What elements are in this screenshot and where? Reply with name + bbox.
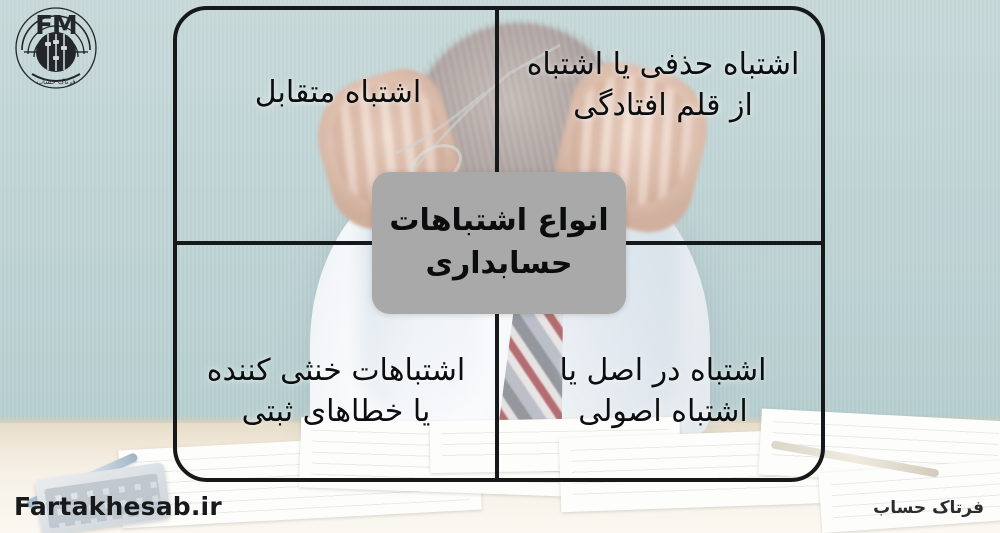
- quadrant-top-left-line1: اشتباه متقابل: [188, 72, 488, 113]
- center-node-label: انواع اشتباهات حسابداری: [389, 200, 608, 285]
- watermark-site-url: Fartakhesab.ir: [14, 492, 222, 521]
- quadrant-top-right: اشتباه حذفی یا اشتباه از قلم افتادگی: [508, 44, 818, 127]
- quadrant-bottom-left-line2: یا خطاهای ثبتی: [186, 391, 486, 432]
- quadrant-bottom-right-line2: اشتباه اصولی: [508, 391, 818, 432]
- quadrant-bottom-left-line1: اشتباهات خنثی کننده: [186, 350, 486, 391]
- quadrant-bottom-left: اشتباهات خنثی کننده یا خطاهای ثبتی: [186, 350, 486, 433]
- center-node: انواع اشتباهات حسابداری: [372, 172, 626, 314]
- quadrant-top-left: اشتباه متقابل: [188, 72, 488, 113]
- infographic-stage: FM فرتاک حساب اشتباه متقابل اشتباه حذفی …: [0, 0, 1000, 533]
- quadrant-bottom-right-line1: اشتباه در اصل یا: [508, 350, 818, 391]
- center-node-line1: انواع اشتباهات: [389, 200, 608, 243]
- watermark-brand-name: فرتاک حساب: [873, 498, 984, 518]
- logo-caption: فرتاک حساب: [36, 78, 75, 86]
- quadrant-bottom-right: اشتباه در اصل یا اشتباه اصولی: [508, 350, 818, 433]
- quadrant-top-right-line2: از قلم افتادگی: [508, 85, 818, 126]
- fartak-hesab-logo[interactable]: FM فرتاک حساب: [8, 4, 104, 96]
- quadrant-top-right-line1: اشتباه حذفی یا اشتباه: [508, 44, 818, 85]
- center-node-line2: حسابداری: [389, 243, 608, 286]
- svg-text:FM: FM: [35, 11, 77, 41]
